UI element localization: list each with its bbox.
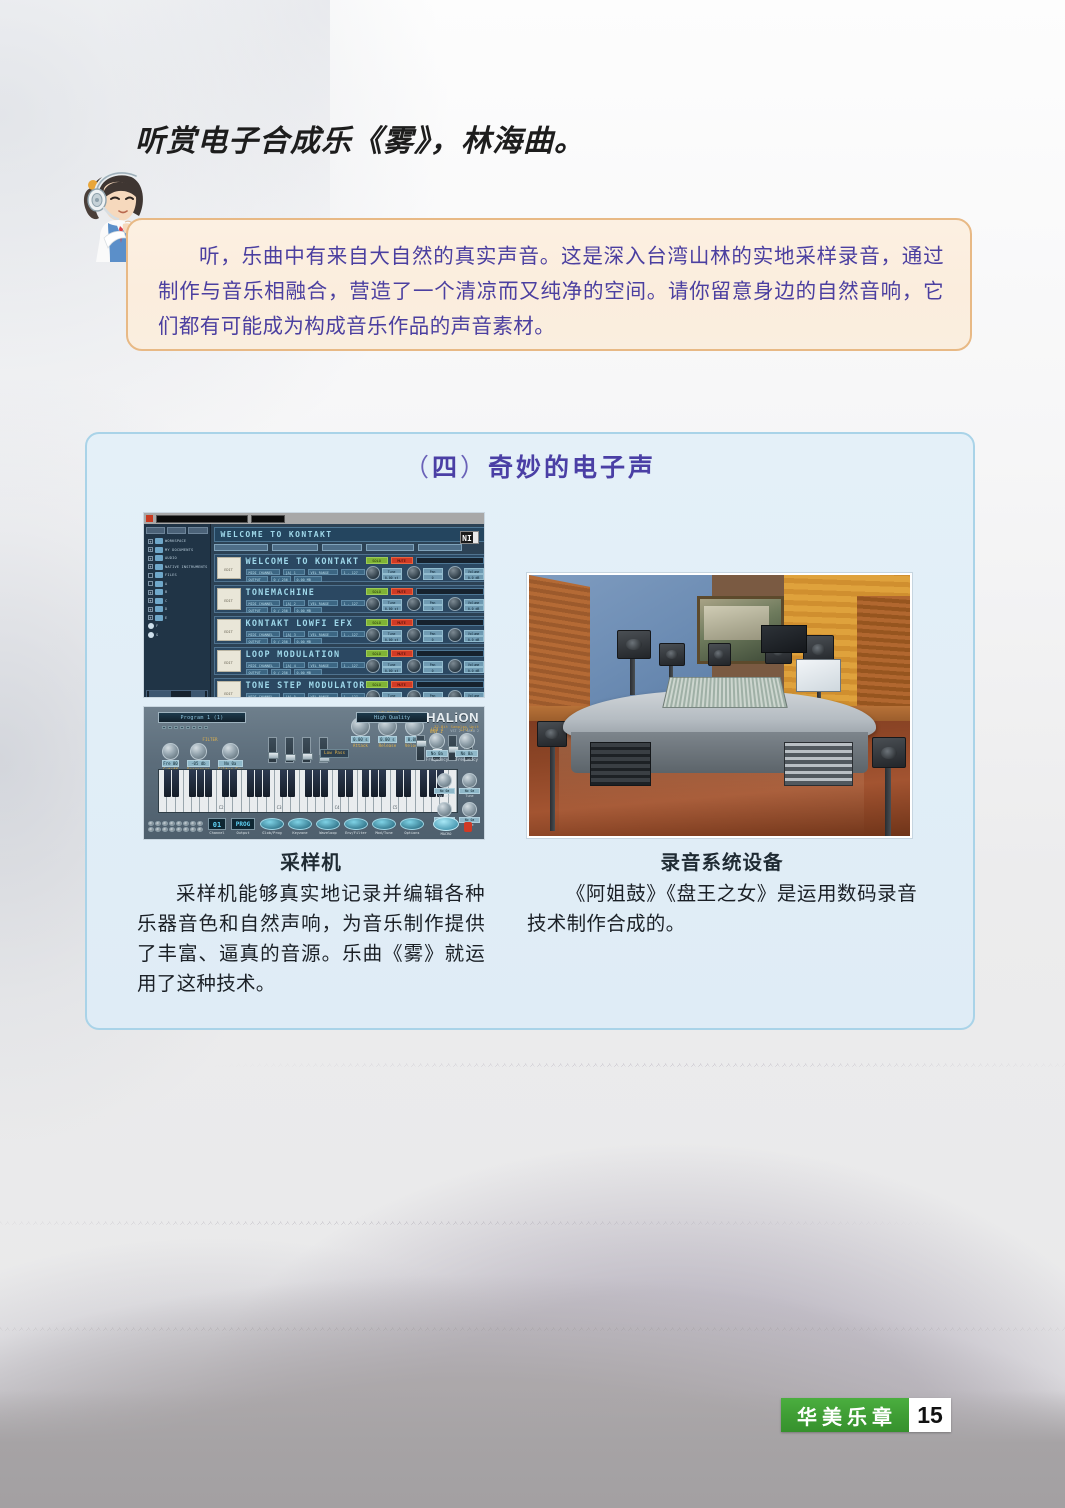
kontakt-mixer-knob: Tune0.00 st bbox=[366, 597, 402, 611]
listening-prompt-callout: 听，乐曲中有来自大自然的真实声音。这是深入台湾山林的实地采样录音，通过制作与音乐… bbox=[126, 218, 972, 351]
kontakt-slot-field: VEL RANGE bbox=[308, 600, 338, 606]
halion-filter-knob-cutoff: Fre 00 Cutoff bbox=[162, 743, 179, 772]
piano-black-key bbox=[164, 770, 171, 797]
kontakt-slot-field: 1 - 127 bbox=[341, 631, 365, 637]
kontakt-mute-button: MUTE bbox=[391, 650, 413, 657]
kontakt-mixer-knob: Tune0.00 st bbox=[366, 628, 402, 642]
piano-black-key bbox=[404, 770, 411, 797]
tree-node: FILES bbox=[148, 572, 208, 578]
halion-page-button: Options bbox=[400, 818, 424, 835]
piano-black-key bbox=[321, 770, 328, 797]
kontakt-slot-mixer: SOLOMUTETune0.00 stPan0Volume0.0 dB bbox=[366, 619, 484, 641]
kontakt-mixer-knob: Pan0 bbox=[407, 628, 443, 642]
kontakt-slot-field: VEL RANGE bbox=[308, 693, 338, 698]
footer-unit-name: 华美乐章 bbox=[781, 1398, 909, 1432]
callout-text: 听，乐曲中有来自大自然的真实声音。这是深入台湾山林的实地采样录音，通过制作与音乐… bbox=[128, 220, 970, 345]
kontakt-slot-field: 0 / 256 bbox=[271, 607, 291, 613]
kontakt-slot-name: WELCOME TO KONTAKT bbox=[246, 557, 366, 568]
halion-output-display: PROG Output bbox=[231, 818, 255, 835]
kontakt-menu-help bbox=[418, 544, 462, 551]
kontakt-mixer-knob: Pan0 bbox=[407, 659, 443, 673]
kontakt-level-meter bbox=[416, 557, 484, 564]
kontakt-tab-files bbox=[146, 527, 165, 534]
tree-node: +MY DOCUMENTS bbox=[148, 547, 208, 553]
kontakt-solo-button: SOLO bbox=[366, 650, 388, 657]
page-footer-badge: 华美乐章 15 bbox=[781, 1398, 951, 1432]
piano-black-key bbox=[420, 770, 427, 797]
kontakt-app-icon bbox=[146, 515, 153, 522]
kontakt-level-meter bbox=[416, 681, 484, 688]
halion-brand-logo: HALiON 32-Bit Sampler Unit VST 2 - ASIO … bbox=[426, 710, 479, 733]
section-paren-open: （ bbox=[404, 454, 432, 482]
piano-black-key bbox=[255, 770, 262, 797]
control-room-window-reflection bbox=[704, 606, 769, 640]
kontakt-flip-button bbox=[251, 515, 285, 523]
halion-program-select: Program 1 (1) bbox=[158, 712, 246, 723]
piano-black-key bbox=[263, 770, 270, 797]
kontakt-menu-options bbox=[272, 544, 318, 551]
kontakt-menu-quickload bbox=[214, 544, 268, 551]
halion-knob-volume: No 0a Volume bbox=[434, 773, 455, 798]
sampler-caption-title: 采样机 bbox=[137, 846, 485, 875]
kontakt-mixer-knob: Pan0 bbox=[407, 566, 443, 580]
kontakt-slot-field: VEL RANGE bbox=[308, 631, 338, 637]
kontakt-solo-button: SOLO bbox=[366, 557, 388, 564]
steinberg-logo-icon bbox=[464, 822, 472, 832]
speaker-stand bbox=[550, 747, 555, 831]
halion-page-buttons: Glob/ProgKeyzoneWaveloopEnv/FilterMod/Tu… bbox=[260, 818, 424, 835]
halion-page-button: Keyzone bbox=[288, 818, 312, 835]
kontakt-slot-mixer: SOLOMUTETune0.00 stPan0Volume0.0 dB bbox=[366, 650, 484, 672]
piano-black-key bbox=[280, 770, 287, 797]
kontakt-browser-tabs bbox=[146, 527, 208, 534]
kontakt-file-tree: +WORKSPACE +MY DOCUMENTS +AUDIO +NATIVE … bbox=[146, 538, 208, 638]
piano-black-key bbox=[362, 770, 369, 797]
halion-led-row bbox=[162, 726, 208, 729]
treeline-near bbox=[0, 1306, 1065, 1332]
tree-node: G bbox=[148, 632, 208, 638]
section-number: 四 bbox=[432, 454, 460, 482]
kontakt-rack-header: WELCOME TO KONTAKT bbox=[214, 527, 485, 542]
kontakt-slot-edit-button: EDIT bbox=[217, 619, 241, 641]
kontakt-slot-field: 0.00 MB bbox=[294, 669, 322, 675]
kontakt-slot-field: MIDI CHANNEL bbox=[246, 662, 280, 668]
kontakt-multi-name-field bbox=[156, 515, 248, 523]
kontakt-mute-button: MUTE bbox=[391, 557, 413, 564]
kontakt-slot-field: 0.00 MB bbox=[294, 576, 322, 582]
kontakt-instrument-slot: EDITLOOP MODULATIONMIDI CHANNEL[A] 4VEL … bbox=[214, 647, 485, 675]
kontakt-mixer-knob: Tune0.00 st bbox=[366, 659, 402, 673]
halion-bottom-bar: 01 Channel PROG Output Glob/ProgKeyzoneW… bbox=[144, 813, 484, 840]
kontakt-slot-list: EDITWELCOME TO KONTAKTMIDI CHANNEL[A] 1V… bbox=[214, 554, 485, 698]
kontakt-slot-field: 1 - 127 bbox=[341, 569, 365, 575]
kontakt-slot-field: MIDI CHANNEL bbox=[246, 569, 280, 575]
footer-page-number: 15 bbox=[909, 1398, 951, 1432]
section-heading-text: 奇妙的电子声 bbox=[488, 454, 656, 482]
kontakt-browser-searchbar bbox=[146, 690, 208, 699]
kontakt-mixer-knob: Volume0.0 dB bbox=[448, 566, 484, 580]
kontakt-instrument-slot: EDITKONTAKT LOWFI EFXMIDI CHANNEL[A] 3VE… bbox=[214, 616, 485, 644]
piano-black-key bbox=[247, 770, 254, 797]
kontakt-slot-field: 1 - 127 bbox=[341, 600, 365, 606]
piano-black-key bbox=[313, 770, 320, 797]
speaker-stand bbox=[630, 659, 635, 696]
kontakt-solo-button: SOLO bbox=[366, 681, 388, 688]
kontakt-slot-edit-button: EDIT bbox=[217, 681, 241, 698]
kontakt-mixer-knob: Volume0.0 dB bbox=[448, 597, 484, 611]
studio-monitor-speaker bbox=[659, 643, 686, 666]
studio-monitor-speaker bbox=[708, 643, 731, 666]
halion-knob-tune: No 0a Tune bbox=[459, 773, 480, 798]
kontakt-slot-field: [A] 3 bbox=[283, 631, 305, 637]
treeline-far bbox=[0, 1042, 1065, 1068]
kontakt-mixer-knob: Tune0.00 st bbox=[366, 690, 402, 698]
kontakt-slot-info: TONE STEP MODULATORMIDI CHANNEL[A] 5VEL … bbox=[241, 681, 366, 698]
kontakt-slot-field: 0.00 MB bbox=[294, 607, 322, 613]
kontakt-instrument-slot: EDITTONE STEP MODULATORMIDI CHANNEL[A] 5… bbox=[214, 678, 485, 698]
kontakt-sampler-screenshot: +WORKSPACE +MY DOCUMENTS +AUDIO +NATIVE … bbox=[143, 512, 485, 698]
kontakt-mute-button: MUTE bbox=[391, 619, 413, 626]
halion-filter-group-label: FILTER bbox=[162, 737, 258, 742]
kontakt-slot-field: MIDI CHANNEL bbox=[246, 631, 280, 637]
halion-channel-display: 01 Channel bbox=[208, 818, 226, 835]
computer-monitor bbox=[796, 659, 842, 693]
equipment-rack-left bbox=[590, 742, 651, 786]
recording-studio-photo bbox=[527, 573, 912, 838]
recording-system-caption-title: 录音系统设备 bbox=[527, 846, 917, 875]
piano-black-key bbox=[371, 770, 378, 797]
tree-node: F bbox=[148, 623, 208, 629]
halion-mini-key-matrix bbox=[148, 821, 203, 832]
kontakt-tab-autoload bbox=[188, 527, 207, 534]
kontakt-mixer-knob: Volume0.0 dB bbox=[448, 628, 484, 642]
kontakt-slot-field: OUTPUT bbox=[246, 669, 268, 675]
halion-lowpass-label: Low Pass bbox=[320, 749, 349, 758]
kontakt-ni-logo: NI bbox=[460, 531, 479, 544]
kontakt-slot-info: TONEMACHINEMIDI CHANNEL[A] 2VEL RANGE1 -… bbox=[241, 588, 366, 610]
page-title: 听赏电子合成乐《雾》，林海曲。 bbox=[135, 116, 585, 160]
kontakt-level-meter bbox=[416, 588, 484, 595]
kontakt-mixer-knob: Pan0 bbox=[407, 690, 443, 698]
kontakt-instrument-slot: EDITWELCOME TO KONTAKTMIDI CHANNEL[A] 1V… bbox=[214, 554, 485, 582]
kontakt-slot-field: OUTPUT bbox=[246, 576, 268, 582]
studio-monitor-speaker bbox=[872, 737, 906, 768]
tree-node: +B bbox=[148, 589, 208, 595]
piano-black-key bbox=[396, 770, 403, 797]
kontakt-mixer-knob: Volume0.0 dB bbox=[448, 690, 484, 698]
piano-black-key bbox=[172, 770, 179, 797]
tree-node: +C bbox=[148, 598, 208, 604]
kontakt-solo-button: SOLO bbox=[366, 619, 388, 626]
sampler-caption-block: 采样机 采样机能够真实地记录并编辑各种乐器音色和自然声响，为音乐制作提供了丰富、… bbox=[137, 846, 485, 1000]
kontakt-rack-pane: WELCOME TO KONTAKT NI EDITWELCOME TO KON… bbox=[211, 524, 485, 698]
textbook-page: 听赏电子合成乐《雾》，林海曲。 bbox=[0, 0, 1065, 1508]
tree-node: +AUDIO bbox=[148, 555, 208, 561]
kontakt-slot-field: 1 - 127 bbox=[341, 693, 365, 698]
halion-virtual-keyboard: C2C3C4C5 bbox=[158, 769, 458, 813]
kontakt-browser-pane: +WORKSPACE +MY DOCUMENTS +AUDIO +NATIVE … bbox=[144, 524, 211, 698]
kontakt-slot-mixer: SOLOMUTETune0.00 stPan0Volume0.0 dB bbox=[366, 557, 484, 579]
kontakt-slot-field: OUTPUT bbox=[246, 607, 268, 613]
piano-black-key bbox=[189, 770, 196, 797]
kontakt-slot-field: 0 / 256 bbox=[271, 576, 291, 582]
recording-system-caption-body: 《阿姐鼓》《盘王之女》是运用数码录音技术制作合成的。 bbox=[527, 880, 917, 940]
tree-node: +D bbox=[148, 606, 208, 612]
recording-system-caption-block: 录音系统设备 《阿姐鼓》《盘王之女》是运用数码录音技术制作合成的。 bbox=[527, 846, 917, 940]
kontakt-level-meter bbox=[416, 650, 484, 657]
kontakt-mute-button: MUTE bbox=[391, 588, 413, 595]
piano-black-key bbox=[222, 770, 229, 797]
kontakt-menu-browser bbox=[366, 544, 414, 551]
kontakt-slot-field: 0.00 MB bbox=[294, 638, 322, 644]
tree-node: +WORKSPACE bbox=[148, 538, 208, 544]
kontakt-slot-field: 1 - 127 bbox=[341, 662, 365, 668]
halion-page-button: Glob/Prog bbox=[260, 818, 284, 835]
piano-black-key bbox=[230, 770, 237, 797]
kontakt-mixer-knob: Tune0.00 st bbox=[366, 566, 402, 580]
kontakt-slot-field: MIDI CHANNEL bbox=[246, 600, 280, 606]
kontakt-tab-disk bbox=[167, 527, 186, 534]
electronic-sound-section-panel: （四）奇妙的电子声 +WORKSPACE +MY DOCUME bbox=[85, 432, 975, 1030]
halion-sampler-screenshot: Program 1 (1) FILTER Fre 00 Cutoff bbox=[143, 706, 485, 840]
kontakt-menu-purge bbox=[322, 544, 362, 551]
kontakt-slot-name: TONEMACHINE bbox=[246, 588, 366, 599]
halion-filter-knob-resonance: -05 db Resonance bbox=[187, 743, 210, 772]
kontakt-slot-field: OUTPUT bbox=[246, 638, 268, 644]
halion-control-area: Program 1 (1) FILTER Fre 00 Cutoff bbox=[144, 707, 484, 769]
halion-page-button: Mod/Tune bbox=[372, 818, 396, 835]
tree-node: A bbox=[148, 581, 208, 587]
keyboard-octave-label: C3 bbox=[277, 805, 282, 810]
kontakt-slot-mixer: SOLOMUTETune0.00 stPan0Volume0.0 dB bbox=[366, 588, 484, 610]
kontakt-slot-info: LOOP MODULATIONMIDI CHANNEL[A] 4VEL RANG… bbox=[241, 650, 366, 672]
kontakt-slot-name: LOOP MODULATION bbox=[246, 650, 366, 661]
kontakt-slot-field: [A] 4 bbox=[283, 662, 305, 668]
piano-black-key bbox=[197, 770, 204, 797]
kontakt-slot-field: [A] 5 bbox=[283, 693, 305, 698]
keyboard-octave-label: C2 bbox=[219, 805, 224, 810]
kontakt-slot-info: WELCOME TO KONTAKTMIDI CHANNEL[A] 1VEL R… bbox=[241, 557, 366, 579]
piano-black-key bbox=[288, 770, 295, 797]
kontakt-slot-name: TONE STEP MODULATOR bbox=[246, 681, 366, 692]
halion-page-button: Waveloop bbox=[316, 818, 340, 835]
speaker-stand bbox=[885, 768, 890, 836]
kontakt-slot-name: KONTAKT LOWFI EFX bbox=[246, 619, 366, 630]
piano-black-key bbox=[338, 770, 345, 797]
halion-page-button: Env/Filter bbox=[344, 818, 368, 835]
kontakt-mute-button: MUTE bbox=[391, 681, 413, 688]
kontakt-slot-edit-button: EDIT bbox=[217, 557, 241, 579]
kontakt-slot-field: [A] 1 bbox=[283, 569, 305, 575]
kontakt-titlebar bbox=[144, 513, 484, 524]
kontakt-menu-row bbox=[214, 544, 485, 551]
kontakt-slot-edit-button: EDIT bbox=[217, 650, 241, 672]
halion-filter-knob-env: No 0a Filter Env bbox=[218, 743, 243, 772]
tree-node: +E bbox=[148, 615, 208, 621]
kontakt-solo-button: SOLO bbox=[366, 588, 388, 595]
halion-envelope-sliders bbox=[268, 737, 328, 763]
section-heading: （四）奇妙的电子声 bbox=[87, 448, 973, 484]
kontakt-mixer-knob: Volume0.0 dB bbox=[448, 659, 484, 673]
studio-monitor-speaker bbox=[617, 630, 651, 659]
section-paren-close: ） bbox=[460, 454, 488, 482]
kontakt-instrument-slot: EDITTONEMACHINEMIDI CHANNEL[A] 2VEL RANG… bbox=[214, 585, 485, 613]
sampler-caption-body: 采样机能够真实地记录并编辑各种乐器音色和自然声响，为音乐制作提供了丰富、逼真的音… bbox=[137, 880, 485, 1000]
piano-black-key bbox=[305, 770, 312, 797]
kontakt-slot-field: VEL RANGE bbox=[308, 662, 338, 668]
kontakt-slot-field: 0 / 256 bbox=[271, 669, 291, 675]
kontakt-mixer-knob: Pan0 bbox=[407, 597, 443, 611]
kontakt-slot-edit-button: EDIT bbox=[217, 588, 241, 610]
kontakt-slot-mixer: SOLOMUTETune0.00 stPan0Volume0.0 dB bbox=[366, 681, 484, 698]
piano-black-key bbox=[379, 770, 386, 797]
piano-black-key bbox=[205, 770, 212, 797]
kontakt-slot-field: MIDI CHANNEL bbox=[246, 693, 280, 698]
equipment-rack-right bbox=[784, 742, 853, 786]
kontakt-body: +WORKSPACE +MY DOCUMENTS +AUDIO +NATIVE … bbox=[144, 524, 484, 698]
keyboard-octave-label: C5 bbox=[393, 805, 398, 810]
piano-black-key bbox=[346, 770, 353, 797]
keyboard-octave-label: C4 bbox=[335, 805, 340, 810]
halion-macro-button: MACRO bbox=[433, 817, 459, 836]
kontakt-slot-field: 0 / 256 bbox=[271, 638, 291, 644]
kontakt-slot-info: KONTAKT LOWFI EFXMIDI CHANNEL[A] 3VEL RA… bbox=[241, 619, 366, 641]
halion-quality-select: High Quality bbox=[356, 712, 428, 723]
kontakt-slot-field: VEL RANGE bbox=[308, 569, 338, 575]
kontakt-slot-field: [A] 2 bbox=[283, 600, 305, 606]
tree-node: +NATIVE INSTRUMENTS bbox=[148, 564, 208, 570]
studio-flat-screen bbox=[761, 625, 807, 654]
kontakt-level-meter bbox=[416, 619, 484, 626]
mixing-console bbox=[662, 677, 788, 708]
